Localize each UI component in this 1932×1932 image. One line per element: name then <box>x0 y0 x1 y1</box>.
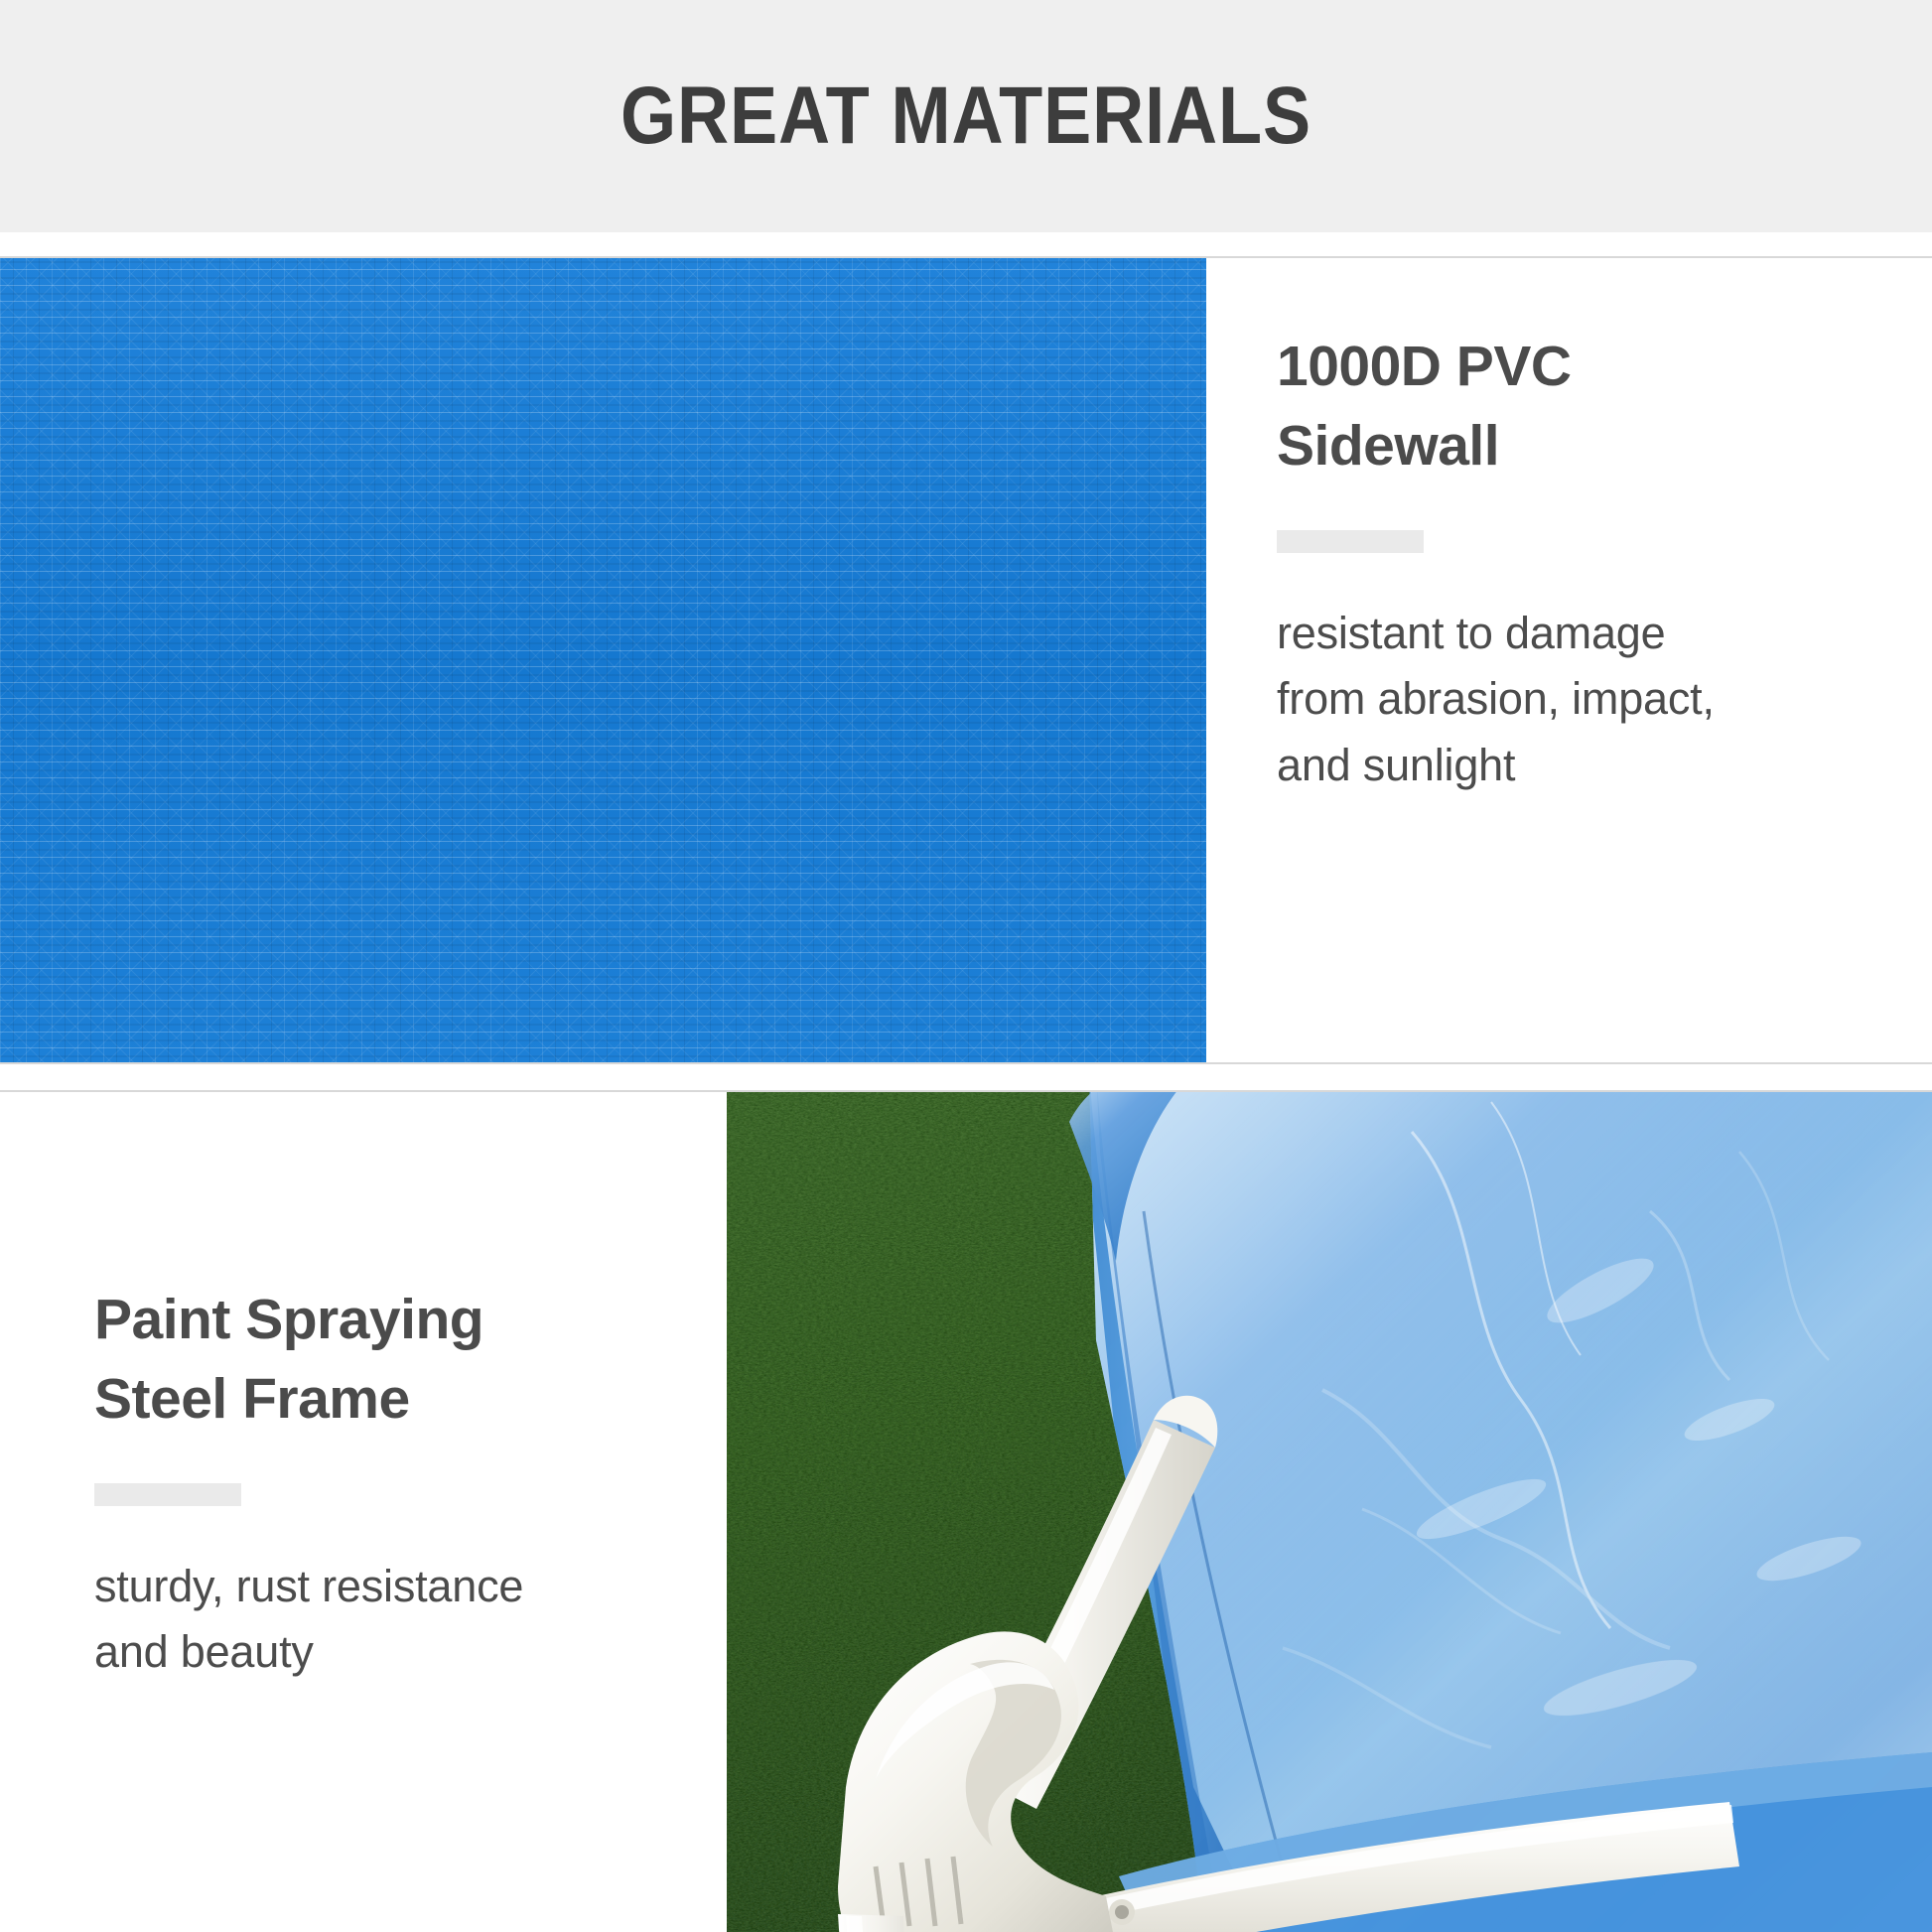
steel-frame-body: sturdy, rust resistance and beauty <box>94 1554 670 1686</box>
section-steel-frame: Paint Spraying Steel Frame sturdy, rust … <box>0 1092 1932 1932</box>
pvc-sidewall-body: resistant to damage from abrasion, impac… <box>1277 601 1882 799</box>
section-pvc-sidewall: 1000D PVC Sidewall resistant to damage f… <box>0 258 1932 1064</box>
page-header: GREAT MATERIALS <box>0 0 1932 232</box>
pvc-sidewall-divider <box>1277 530 1424 553</box>
pvc-sidewall-heading: 1000D PVC Sidewall <box>1277 328 1882 486</box>
pvc-fabric-swatch <box>0 258 1206 1064</box>
steel-frame-text-block: Paint Spraying Steel Frame sturdy, rust … <box>94 1281 670 1686</box>
steel-frame-divider <box>94 1483 241 1506</box>
pvc-sidewall-text-block: 1000D PVC Sidewall resistant to damage f… <box>1277 328 1882 798</box>
pool-steel-frame-photo <box>727 1092 1932 1932</box>
pool-frame-illustration <box>727 1092 1932 1932</box>
section-one-bottom-rule <box>0 1062 1932 1064</box>
page-title: GREAT MATERIALS <box>116 0 1816 232</box>
steel-frame-heading: Paint Spraying Steel Frame <box>94 1281 670 1440</box>
product-feature-page: GREAT MATERIALS 1000D PVC Sidewall resis… <box>0 0 1932 1932</box>
